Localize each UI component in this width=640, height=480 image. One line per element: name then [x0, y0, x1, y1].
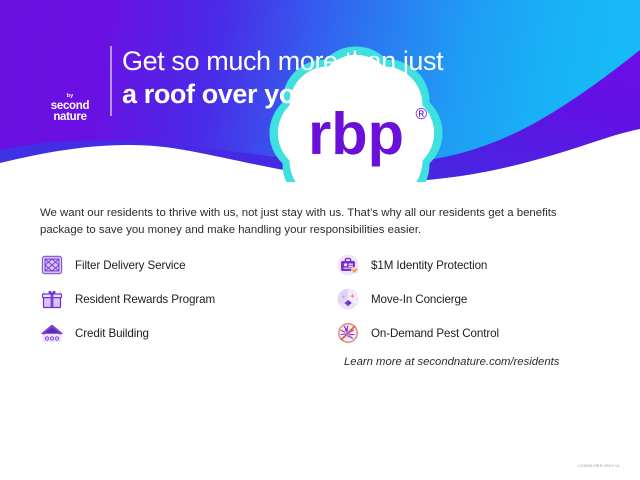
- benefit-item-filter-delivery: Filter Delivery Service: [40, 248, 320, 282]
- benefit-item-credit-building: Credit Building: [40, 316, 320, 350]
- sparkle-diamond-icon: [336, 287, 360, 311]
- header-banner: rbp ® by second nature Get so much more …: [0, 0, 640, 182]
- benefit-item-identity-protection: $1M Identity Protection: [336, 248, 616, 282]
- benefit-item-movein-concierge: Move-In Concierge: [336, 282, 616, 316]
- gift-box-icon: [40, 287, 64, 311]
- benefit-item-pest-control: On-Demand Pest Control: [336, 316, 616, 350]
- headline-line-2: a roof over your head.: [122, 78, 602, 111]
- flyer-page: rbp ® by second nature Get so much more …: [0, 0, 640, 480]
- logo-brand-line2: nature: [36, 112, 104, 124]
- logo-by-label: by: [36, 94, 104, 100]
- benefit-item-resident-rewards: Resident Rewards Program: [40, 282, 320, 316]
- benefit-label: On-Demand Pest Control: [371, 327, 499, 340]
- benefit-label: Move-In Concierge: [371, 293, 467, 306]
- benefits-column-left: Filter Delivery Service Resident Rewards…: [40, 248, 320, 350]
- house-credit-icon: [40, 321, 64, 345]
- benefit-label: $1M Identity Protection: [371, 259, 487, 272]
- learn-more-text: Learn more at secondnature.com/residents: [344, 356, 600, 368]
- second-nature-lockup: by second nature: [36, 94, 104, 124]
- logo-divider: [110, 46, 112, 116]
- id-briefcase-shield-icon: [336, 253, 360, 277]
- benefit-label: Credit Building: [75, 327, 149, 340]
- air-filter-icon: [40, 253, 64, 277]
- benefits-column-right: $1M Identity Protection Move-In Concierg…: [336, 248, 616, 350]
- rbp-logo: rbp ® by second nature: [36, 42, 104, 118]
- headline-line-1: Get so much more than just: [122, 45, 602, 78]
- headline: Get so much more than just a roof over y…: [122, 45, 602, 111]
- benefit-label: Resident Rewards Program: [75, 293, 215, 306]
- benefit-label: Filter Delivery Service: [75, 259, 185, 272]
- fine-print-code: CS5006-RES 03/24 V1: [578, 464, 620, 468]
- no-pest-icon: [336, 321, 360, 345]
- intro-paragraph: We want our residents to thrive with us,…: [40, 205, 596, 240]
